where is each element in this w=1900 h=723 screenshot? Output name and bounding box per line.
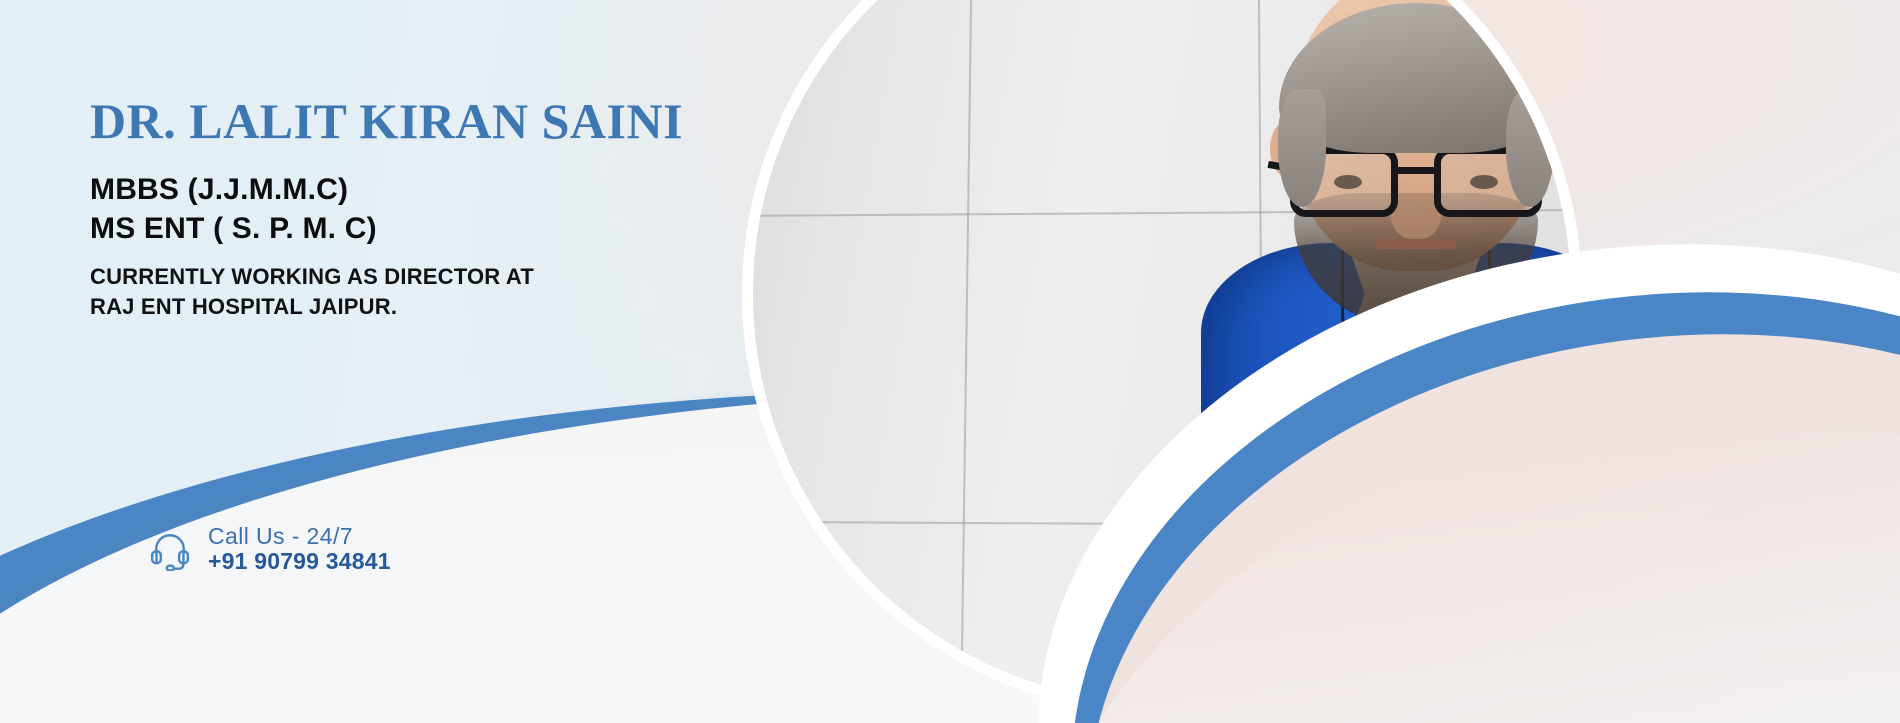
call-us-label: Call Us - 24/7 [208,524,391,550]
role-line-2: RAJ ENT HOSPITAL JAIPUR. [90,292,683,322]
page-title: DR. LALIT KIRAN SAINI [90,96,683,146]
doctor-profile-banner: DR. LALIT KIRAN SAINI MBBS (J.J.M.M.C) M… [0,0,1900,723]
mouth [1375,239,1457,249]
glasses-bridge [1396,167,1436,174]
tile-grout-line [960,0,973,703]
headset-icon [148,527,192,571]
phone-number[interactable]: +91 90799 34841 [208,549,391,575]
eyeglasses-icon [1290,147,1542,221]
degrees-list: MBBS (J.J.M.M.C) MS ENT ( S. P. M. C) [90,170,683,248]
head [1288,0,1544,271]
wristwatch [1270,537,1337,607]
degree-line-1: MBBS (J.J.M.M.C) [90,170,683,209]
role-description: CURRENTLY WORKING AS DIRECTOR AT RAJ ENT… [90,262,683,322]
contact-text: Call Us - 24/7 +91 90799 34841 [208,524,391,576]
doctor-photo-circle [742,0,1582,714]
contact-block[interactable]: Call Us - 24/7 +91 90799 34841 [148,524,391,576]
doctor-figure [1156,0,1571,703]
hair-side-left [1278,89,1326,207]
watch-face [1284,553,1323,592]
hair-side-right [1506,89,1554,207]
role-line-1: CURRENTLY WORKING AS DIRECTOR AT [90,262,683,292]
doctor-photo [753,0,1571,703]
scrub-chest-logo [1478,445,1481,479]
text-content: DR. LALIT KIRAN SAINI MBBS (J.J.M.M.C) M… [90,96,683,322]
degree-line-2: MS ENT ( S. P. M. C) [90,209,683,248]
